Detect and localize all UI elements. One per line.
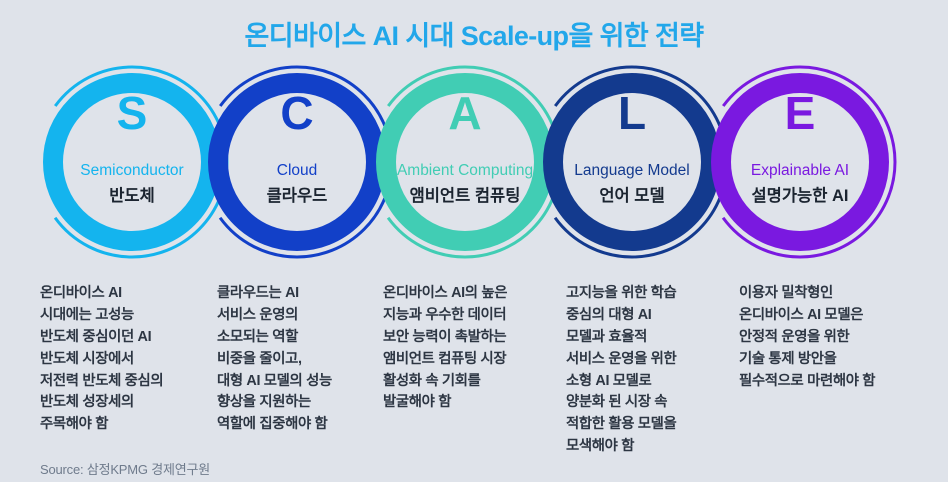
ring-main-c [218,83,376,241]
description-column-e: 이용자 밀착형인 온디바이스 AI 모델은 안정적 운영을 위한 기술 통제 방… [739,283,919,392]
page-title: 온디바이스 AI 시대 Scale-up을 위한 전략 [0,14,948,53]
ring-outer-arc-c [202,67,392,257]
description-column-l: 고지능을 위한 학습 중심의 대형 AI 모델과 효율적 서비스 운영을 위한 … [566,283,728,458]
ring-outer-arc-l [537,67,727,257]
ring-main-l [553,83,711,241]
description-columns: 온디바이스 AI 시대에는 고성능 반도체 중심이던 AI 반도체 시장에서 저… [0,283,948,443]
ring-main-a [386,83,544,241]
infographic-canvas: 온디바이스 AI 시대 Scale-up을 위한 전략 S Semiconduc… [0,0,948,482]
ring-outer-arc-a [370,67,560,257]
ring-main-s [53,83,211,241]
description-column-a: 온디바이스 AI의 높은 지능과 우수한 데이터 보안 능력이 촉발하는 앰비언… [383,283,559,414]
ring-outer-arc-e [705,67,895,257]
description-column-c: 클라우드는 AI 서비스 운영의 소모되는 역할 비중을 줄이고, 대형 AI … [217,283,377,436]
rings-svg [0,62,948,262]
ring-outer-arc-s [37,67,227,257]
description-column-s: 온디바이스 AI 시대에는 고성능 반도체 중심이던 AI 반도체 시장에서 저… [40,283,212,436]
ring-main-e [721,83,879,241]
scale-rings-diagram [0,62,948,262]
source-credit: Source: 삼정KPMG 경제연구원 [40,459,210,478]
